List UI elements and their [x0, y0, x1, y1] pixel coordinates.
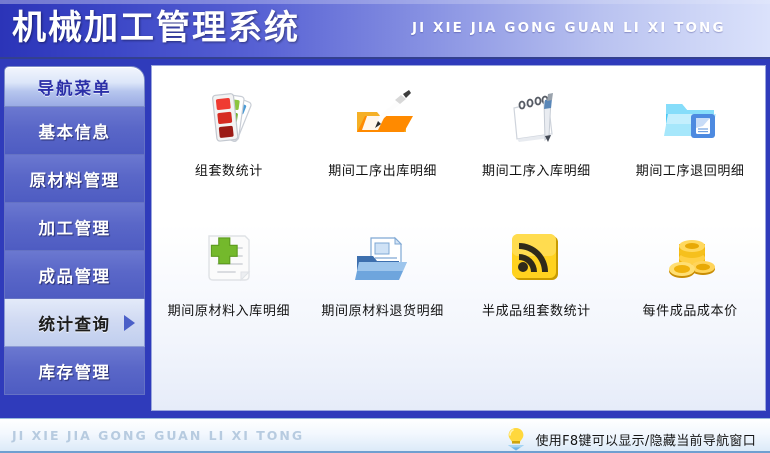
blue-folder-open-document-icon [351, 226, 415, 290]
tile-material-inbound-detail[interactable]: 期间原材料入库明细 [152, 220, 306, 360]
notepad-pen-icon [504, 86, 568, 150]
sidebar-item-label: 基本信息 [39, 119, 111, 143]
sidebar-item-label: 统计查询 [39, 311, 111, 335]
yellow-rss-icon [504, 226, 568, 290]
tile-label: 组套数统计 [195, 160, 263, 179]
tile-process-return-detail[interactable]: 期间工序退回明细 [613, 80, 766, 220]
sidebar-item-label: 原材料管理 [30, 167, 120, 191]
sidebar-item-label: 库存管理 [39, 359, 111, 383]
tile-label: 期间工序出库明细 [328, 160, 437, 179]
nav-header-label: 导航菜单 [38, 75, 112, 99]
tile-label: 期间工序入库明细 [482, 160, 591, 179]
tile-kit-count-statistics[interactable]: 组套数统计 [152, 80, 306, 220]
app-title: 机械加工管理系统 [12, 6, 300, 50]
tile-process-outbound-detail[interactable]: 期间工序出库明细 [306, 80, 460, 220]
body-frame: 导航菜单 基本信息 原材料管理 加工管理 成品管理 统计查询 库存管理 [0, 59, 770, 418]
status-bar-pinyin: JI XIE JIA GONG GUAN LI XI TONG [12, 428, 304, 443]
application-window: 机械加工管理系统 JI XIE JIA GONG GUAN LI XI TONG… [0, 0, 770, 453]
sidebar-item-processing[interactable]: 加工管理 [4, 203, 145, 251]
orange-folder-pen-icon [351, 86, 415, 150]
tile-unit-product-cost[interactable]: 每件成品成本价 [613, 220, 766, 360]
tile-semi-finished-kit-statistics[interactable]: 半成品组套数统计 [460, 220, 614, 360]
color-swatch-fan-icon [197, 86, 261, 150]
tile-label: 半成品组套数统计 [482, 300, 591, 319]
status-bar: JI XIE JIA GONG GUAN LI XI TONG 使用F8键可以显… [0, 418, 770, 453]
status-bar-tip: 使用F8键可以显示/隐藏当前导航窗口 [505, 427, 756, 451]
sidebar-item-statistics-query[interactable]: 统计查询 [4, 299, 145, 347]
tile-label: 期间原材料入库明细 [168, 300, 290, 319]
nav-header[interactable]: 导航菜单 [4, 66, 145, 107]
document-green-plus-icon [197, 226, 261, 290]
tile-material-return-detail[interactable]: 期间原材料退货明细 [306, 220, 460, 360]
sidebar-item-label: 成品管理 [39, 263, 111, 287]
lightbulb-icon [505, 427, 527, 451]
sidebar-item-basic-info[interactable]: 基本信息 [4, 107, 145, 155]
tile-label: 期间工序退回明细 [636, 160, 745, 179]
content-pane: 组套数统计 期间工 [151, 65, 766, 411]
app-title-pinyin: JI XIE JIA GONG GUAN LI XI TONG [412, 20, 726, 36]
chevron-right-icon [124, 315, 135, 331]
status-tip-text: 使用F8键可以显示/隐藏当前导航窗口 [535, 430, 756, 449]
sidebar-item-finished-product[interactable]: 成品管理 [4, 251, 145, 299]
sidebar-item-label: 加工管理 [39, 215, 111, 239]
sidebar-item-inventory[interactable]: 库存管理 [4, 347, 145, 395]
tile-label: 期间原材料退货明细 [321, 300, 443, 319]
blue-folder-document-icon [658, 86, 722, 150]
app-header: 机械加工管理系统 JI XIE JIA GONG GUAN LI XI TONG [0, 0, 770, 59]
gold-coins-icon [658, 226, 722, 290]
navigation-sidebar: 导航菜单 基本信息 原材料管理 加工管理 成品管理 统计查询 库存管理 [4, 66, 145, 410]
tile-grid: 组套数统计 期间工 [152, 80, 766, 360]
tile-label: 每件成品成本价 [643, 300, 738, 319]
sidebar-item-raw-material[interactable]: 原材料管理 [4, 155, 145, 203]
tile-process-inbound-detail[interactable]: 期间工序入库明细 [460, 80, 614, 220]
